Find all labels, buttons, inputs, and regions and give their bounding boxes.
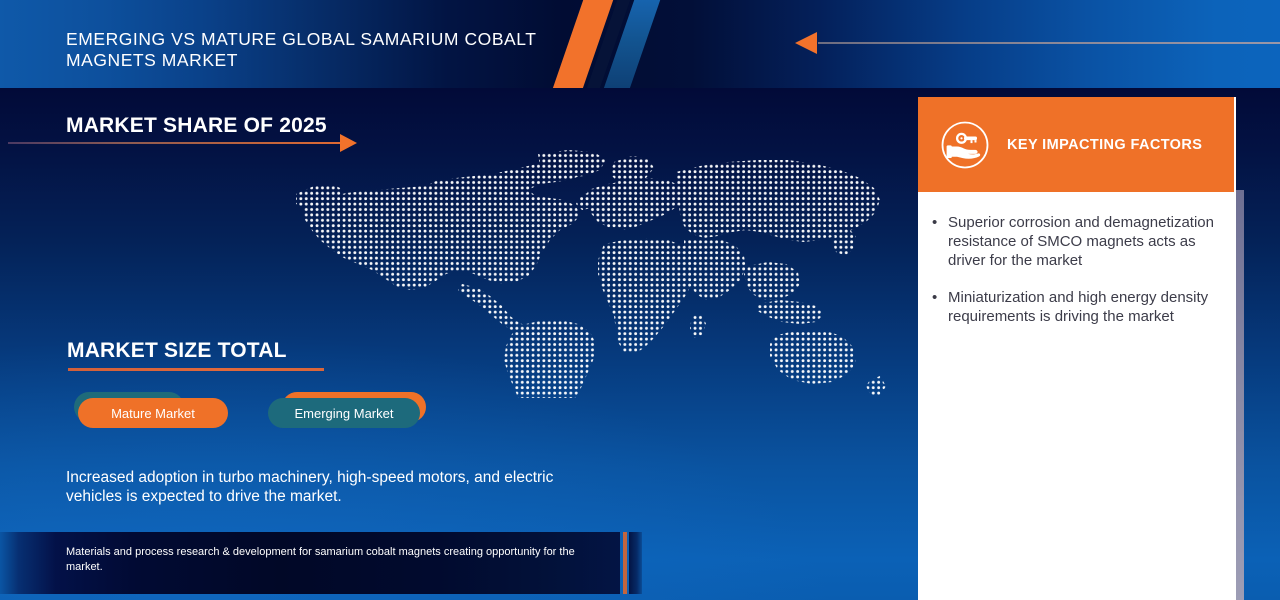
market-share-underline xyxy=(8,142,342,144)
market-size-underline xyxy=(68,368,324,371)
panel-shadow xyxy=(1236,190,1244,600)
infographic-slide: EMERGING VS MATURE GLOBAL SAMARIUM COBAL… xyxy=(0,0,1280,600)
left-arrow-icon xyxy=(795,32,817,54)
key-factors-list: • Superior corrosion and demagnetization… xyxy=(918,192,1236,600)
key-factors-title: KEY IMPACTING FACTORS xyxy=(1007,137,1202,153)
key-factors-header: KEY IMPACTING FACTORS xyxy=(918,97,1234,192)
bullet-marker: • xyxy=(932,289,948,327)
list-item: • Miniaturization and high energy densit… xyxy=(932,289,1220,327)
market-size-title: MARKET SIZE TOTAL xyxy=(67,339,287,363)
legend-emerging-market[interactable]: Emerging Market xyxy=(268,398,420,428)
footer-band-tail xyxy=(629,532,642,594)
page-title: EMERGING VS MATURE GLOBAL SAMARIUM COBAL… xyxy=(66,29,566,70)
bullet-text: Superior corrosion and demagnetization r… xyxy=(948,214,1220,271)
list-item: • Superior corrosion and demagnetization… xyxy=(932,214,1220,271)
bullet-marker: • xyxy=(932,214,948,271)
market-share-title: MARKET SHARE OF 2025 xyxy=(66,114,327,138)
hand-holding-key-icon xyxy=(940,120,990,170)
bullet-text: Miniaturization and high energy density … xyxy=(948,289,1220,327)
body-paragraph: Increased adoption in turbo machinery, h… xyxy=(66,468,606,507)
footer-band-accent-line xyxy=(623,532,627,594)
footer-band-text: Materials and process research & develop… xyxy=(66,545,586,575)
dotted-world-map xyxy=(288,148,898,398)
legend-mature-market[interactable]: Mature Market xyxy=(78,398,228,428)
header-arrow-line xyxy=(818,42,1280,44)
